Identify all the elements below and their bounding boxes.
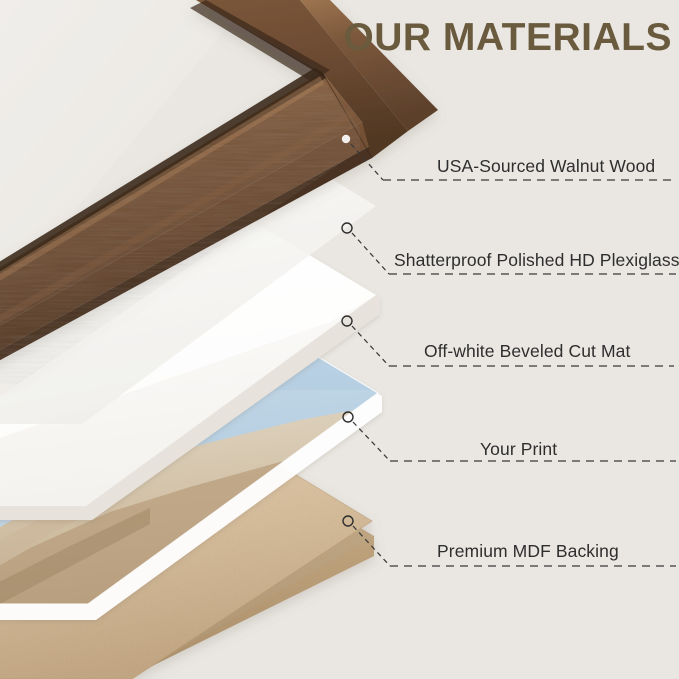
page-title: OUR MATERIALS [343, 18, 672, 57]
callout-label-your-print: Your Print [480, 441, 557, 459]
callout-label-plexiglass: Shatterproof Polished HD Plexiglass [394, 252, 679, 270]
callout-label-walnut-wood: USA-Sourced Walnut Wood [437, 158, 655, 176]
callout-marker-walnut-wood[interactable] [342, 135, 350, 143]
product-exploded-view [0, 0, 679, 679]
callout-label-mdf-backing: Premium MDF Backing [437, 543, 619, 561]
materials-infographic: OUR MATERIALS USA-Sourced Walnut WoodSha… [0, 0, 679, 679]
callout-label-cut-mat: Off-white Beveled Cut Mat [424, 343, 630, 361]
